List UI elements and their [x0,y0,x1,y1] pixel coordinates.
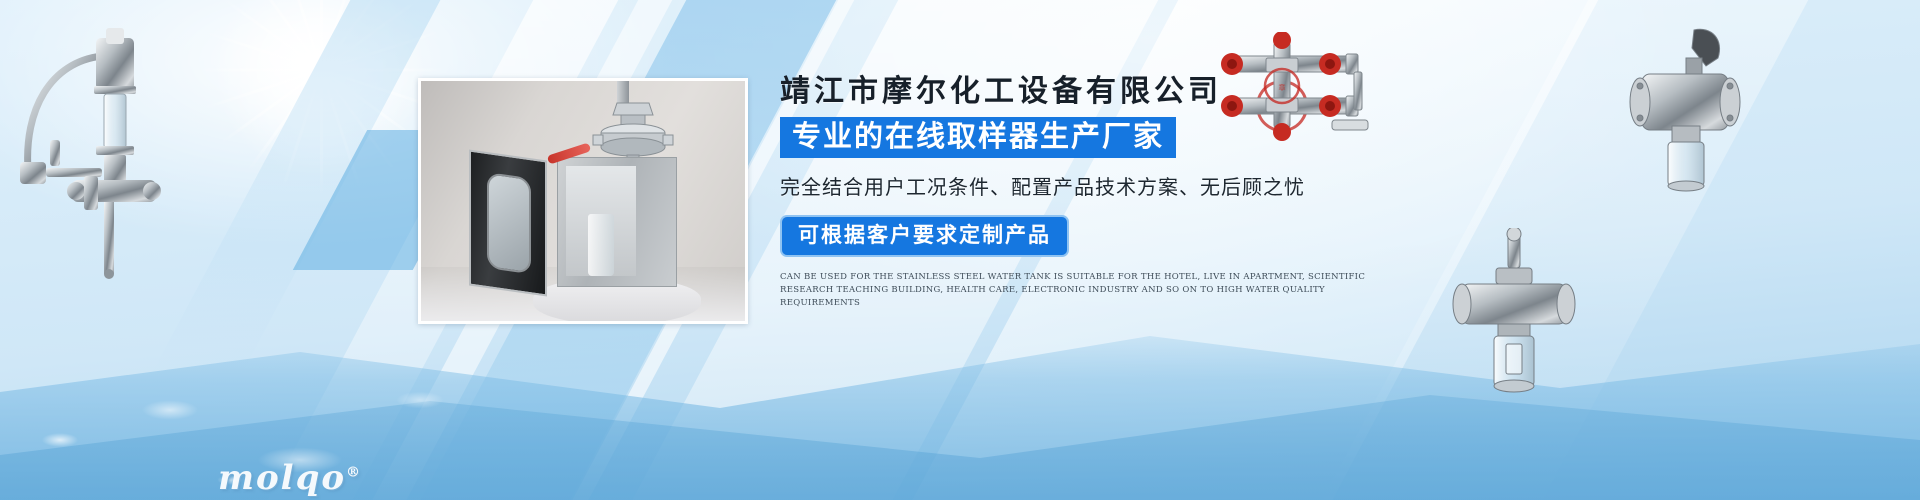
watermark-text: molqo [218,458,346,498]
english-description: CAN BE USED FOR THE STAINLESS STEEL WATE… [780,271,1388,310]
promo-banner: 靖江市摩尔化工设备有限公司 专业的在线取样器生产厂家 完全结合用户工况条件、配置… [0,0,1920,500]
headline-badge: 专业的在线取样器生产厂家 [780,117,1176,158]
watermark-logo: molqo® [218,458,362,498]
product-photo [418,78,748,324]
right-product-flanged-valve [1620,22,1760,192]
custom-product-pill: 可根据客户要求定制产品 [780,215,1069,257]
right-product-cross-manifold: 章 [1212,32,1382,152]
left-product-sampling-valve [10,20,170,280]
sunburst-decoration [185,0,455,195]
subline-text: 完全结合用户工况条件、配置产品技术方案、无后顾之忧 [780,175,1400,201]
photo-valve-head [587,99,659,163]
watermark-registered-mark: ® [346,465,362,481]
svg-text:章: 章 [1279,83,1286,92]
right-product-inline-sampler [1440,228,1590,398]
